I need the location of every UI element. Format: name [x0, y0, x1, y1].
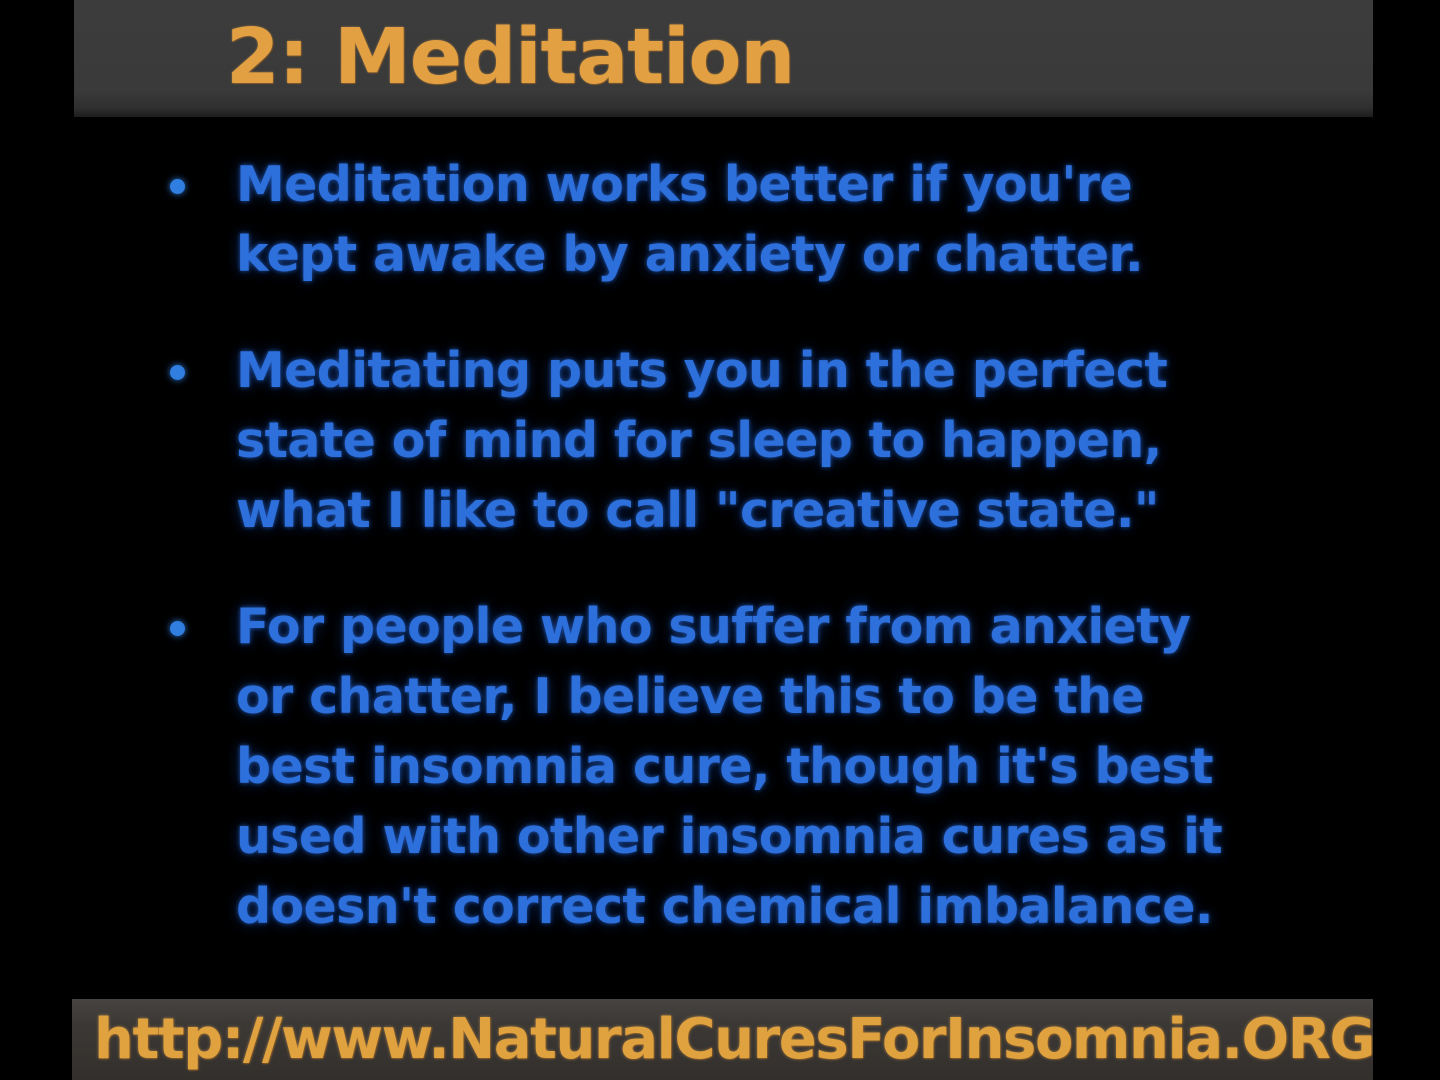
list-item-text: For people who suffer from anxiety or ch… — [236, 592, 1310, 942]
bullet-dot-icon — [170, 621, 185, 636]
page-title: 2: Meditation — [226, 8, 794, 108]
list-item: Meditation works better if you're kept a… — [150, 150, 1310, 290]
title-bar: 2: Meditation — [74, 0, 1373, 117]
slide: 2: Meditation Meditation works better if… — [0, 0, 1440, 1080]
bullet-dot-icon — [170, 179, 185, 194]
footer-bar: http://www.NaturalCuresForInsomnia.ORG — [72, 999, 1373, 1080]
list-item: Meditating puts you in the perfect state… — [150, 336, 1310, 546]
bullet-dot-icon — [170, 365, 185, 380]
list-item-text: Meditation works better if you're kept a… — [236, 150, 1310, 290]
list-item: For people who suffer from anxiety or ch… — [150, 592, 1310, 942]
footer-url[interactable]: http://www.NaturalCuresForInsomnia.ORG — [94, 1005, 1373, 1075]
list-item-text: Meditating puts you in the perfect state… — [236, 336, 1310, 546]
bullet-list: Meditation works better if you're kept a… — [150, 150, 1310, 980]
